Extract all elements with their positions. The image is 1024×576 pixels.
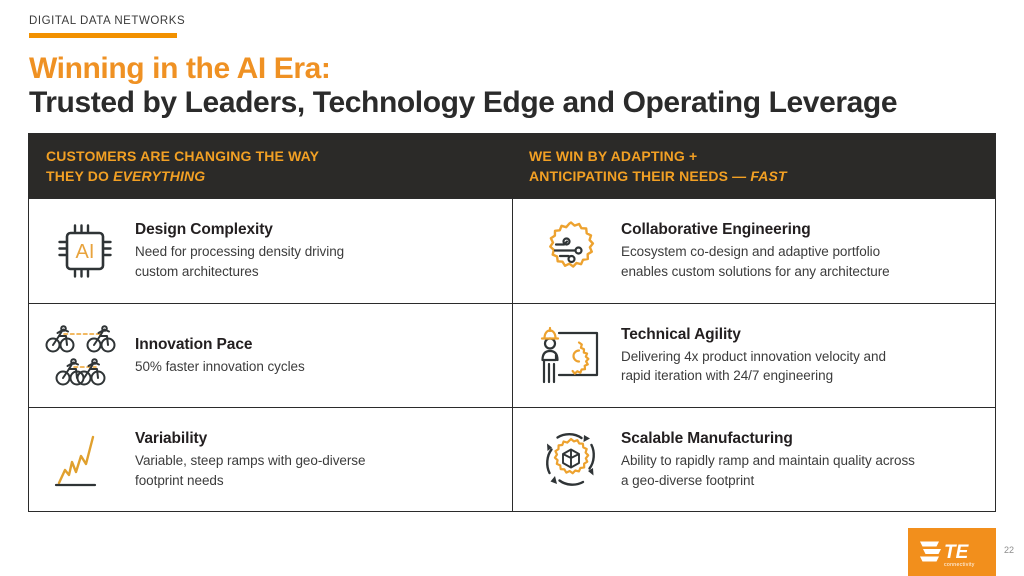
matrix-header-right-line2-italic: FAST (750, 168, 786, 184)
svg-text:AI: AI (76, 241, 95, 263)
cell-text: Technical Agility Delivering 4x product … (613, 325, 886, 386)
matrix-header-left-line1: CUSTOMERS ARE CHANGING THE WAY (46, 146, 512, 166)
cyclists-pace-icon (43, 313, 127, 397)
cell-title: Scalable Manufacturing (621, 429, 915, 449)
matrix-header-left: CUSTOMERS ARE CHANGING THE WAY THEY DO E… (29, 134, 512, 198)
page-number: 22 (1004, 545, 1014, 556)
matrix-cell-variability: Variability Variable, steep ramps with g… (29, 408, 512, 512)
cell-description: 50% faster innovation cycles (135, 357, 305, 377)
cell-text: Collaborative Engineering Ecosystem co-d… (613, 220, 890, 281)
gear-circuit-icon (529, 209, 613, 293)
matrix-row: AI Design Complexity Need for processing… (29, 198, 995, 303)
worker-gear-board-icon (529, 313, 613, 397)
matrix-cell-technical-agility: Technical Agility Delivering 4x product … (512, 304, 995, 408)
cell-title: Innovation Pace (135, 335, 305, 355)
eyebrow-underline-rule (29, 33, 177, 38)
matrix-header-left-line2-plain: THEY DO (46, 168, 113, 184)
svg-text:connectivity: connectivity (944, 562, 975, 568)
cell-text: Variability Variable, steep ramps with g… (127, 429, 365, 490)
cell-description: Ecosystem co-design and adaptive portfol… (621, 242, 890, 281)
te-connectivity-logo: TE connectivity (908, 528, 996, 576)
matrix-header-right: WE WIN BY ADAPTING + ANTICIPATING THEIR … (512, 134, 995, 198)
matrix-header-right-line2-plain: ANTICIPATING THEIR NEEDS — (529, 168, 750, 184)
matrix-cell-scalable-manufacturing: Scalable Manufacturing Ability to rapidl… (512, 408, 995, 512)
eyebrow: DIGITAL DATA NETWORKS (29, 14, 185, 38)
gear-cube-cycle-icon (529, 418, 613, 502)
matrix-cell-design-complexity: AI Design Complexity Need for processing… (29, 199, 512, 303)
cell-title: Variability (135, 429, 365, 449)
cell-text: Design Complexity Need for processing de… (127, 220, 344, 281)
page-title-line1: Winning in the AI Era: (29, 51, 330, 87)
eyebrow-label: DIGITAL DATA NETWORKS (29, 14, 185, 28)
matrix-cell-collaborative-engineering: Collaborative Engineering Ecosystem co-d… (512, 199, 995, 303)
cell-description: Ability to rapidly ramp and maintain qua… (621, 451, 915, 490)
matrix-cell-innovation-pace: Innovation Pace 50% faster innovation cy… (29, 304, 512, 408)
comparison-matrix: CUSTOMERS ARE CHANGING THE WAY THEY DO E… (28, 133, 996, 512)
matrix-header-left-line2: THEY DO EVERYTHING (46, 166, 512, 186)
matrix-header-left-line2-italic: EVERYTHING (113, 168, 205, 184)
cell-title: Design Complexity (135, 220, 344, 240)
cell-description: Delivering 4x product innovation velocit… (621, 347, 886, 386)
matrix-header-right-line1: WE WIN BY ADAPTING + (529, 146, 995, 166)
matrix-row: Innovation Pace 50% faster innovation cy… (29, 303, 995, 408)
ai-chip-icon: AI (43, 209, 127, 293)
page-title-line2: Trusted by Leaders, Technology Edge and … (29, 85, 897, 121)
matrix-header-right-line2: ANTICIPATING THEIR NEEDS — FAST (529, 166, 995, 186)
upward-trend-icon (43, 418, 127, 502)
cell-text: Innovation Pace 50% faster innovation cy… (127, 335, 305, 377)
svg-text:TE: TE (944, 542, 970, 563)
cell-text: Scalable Manufacturing Ability to rapidl… (613, 429, 915, 490)
matrix-row: Variability Variable, steep ramps with g… (29, 407, 995, 512)
cell-description: Variable, steep ramps with geo-diverse f… (135, 451, 365, 490)
matrix-header-band: CUSTOMERS ARE CHANGING THE WAY THEY DO E… (29, 134, 995, 198)
cell-title: Collaborative Engineering (621, 220, 890, 240)
cell-description: Need for processing density driving cust… (135, 242, 344, 281)
cell-title: Technical Agility (621, 325, 886, 345)
